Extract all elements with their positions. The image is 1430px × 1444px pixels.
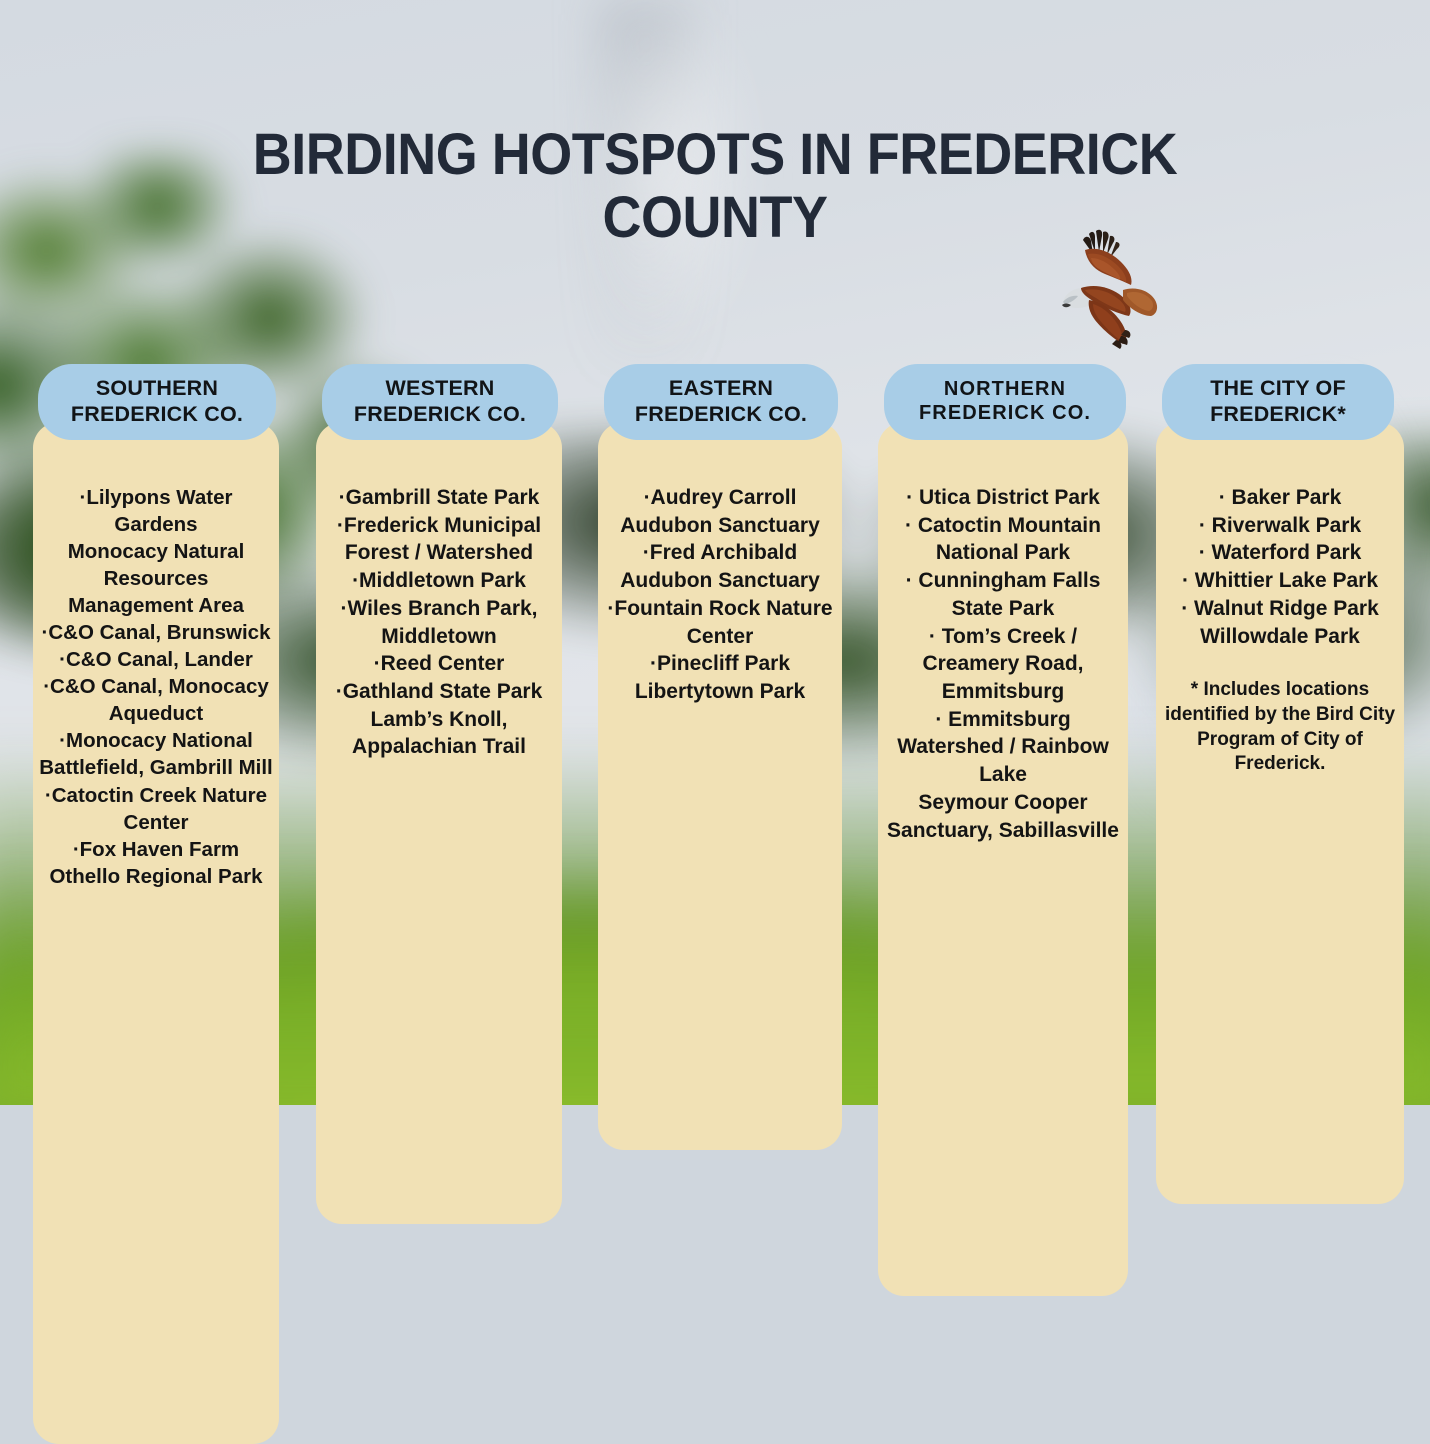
list-item: ·C&O Canal, Monocacy Aqueduct: [39, 673, 273, 727]
column-southern-body: ·Lilypons Water Gardens Monocacy Natural…: [33, 422, 279, 1444]
list-item: ·Fox Haven Farm: [39, 836, 273, 863]
list-item: Willowdale Park: [1162, 623, 1398, 651]
list-item: ·Monocacy National Battlefield, Gambrill…: [39, 727, 273, 781]
column-northern-body: · Utica District Park · Catoctin Mountai…: [878, 422, 1128, 1296]
list-item: · Whittier Lake Park: [1162, 567, 1398, 595]
list-item: · Riverwalk Park: [1162, 512, 1398, 540]
column-city-body: · Baker Park · Riverwalk Park · Waterfor…: [1156, 422, 1404, 1204]
list-item: ·Gambrill State Park: [320, 484, 558, 512]
list-item: · Waterford Park: [1162, 539, 1398, 567]
list-item: · Emmitsburg Watershed / Rainbow Lake: [882, 706, 1124, 789]
column-eastern-body: ·Audrey Carroll Audubon Sanctuary ·Fred …: [598, 422, 842, 1150]
column-western-list: ·Gambrill State Park ·Frederick Municipa…: [320, 484, 558, 761]
list-item: ·Fred Archibald Audubon Sanctuary: [604, 539, 836, 594]
column-city-list: · Baker Park · Riverwalk Park · Waterfor…: [1162, 484, 1398, 650]
list-item: ·Wiles Branch Park, Middletown: [320, 595, 558, 650]
column-northern-heading: NORTHERN FREDERICK CO.: [884, 364, 1126, 440]
list-item: · Walnut Ridge Park: [1162, 595, 1398, 623]
column-city-heading: THE CITY OF FREDERICK*: [1162, 364, 1394, 440]
column-northern-list: · Utica District Park · Catoctin Mountai…: [882, 484, 1124, 844]
list-item: ·Middletown Park: [320, 567, 558, 595]
hotspot-columns: ·Lilypons Water Gardens Monocacy Natural…: [0, 364, 1430, 1104]
list-item: ·Lilypons Water Gardens: [39, 484, 273, 538]
column-eastern-list: ·Audrey Carroll Audubon Sanctuary ·Fred …: [604, 484, 836, 706]
list-item: · Catoctin Mountain National Park: [882, 512, 1124, 567]
city-footnote: * Includes locations identified by the B…: [1162, 678, 1398, 777]
column-western-heading: WESTERN FREDERICK CO.: [322, 364, 558, 440]
list-item: ·C&O Canal, Lander: [39, 646, 273, 673]
column-southern-heading: SOUTHERN FREDERICK CO.: [38, 364, 276, 440]
list-item: Libertytown Park: [604, 678, 836, 706]
column-southern-list: ·Lilypons Water Gardens Monocacy Natural…: [39, 484, 273, 890]
soaring-hawk-icon: [1045, 228, 1163, 350]
list-item: Othello Regional Park: [39, 863, 273, 890]
column-western-body: ·Gambrill State Park ·Frederick Municipa…: [316, 422, 562, 1224]
list-item: ·Catoctin Creek Nature Center: [39, 782, 273, 836]
list-item: ·Gathland State Park: [320, 678, 558, 706]
list-item: ·Frederick Municipal Forest / Watershed: [320, 512, 558, 567]
list-item: Seymour Cooper Sanctuary, Sabillasville: [882, 789, 1124, 844]
list-item: Monocacy Natural Resources Management Ar…: [39, 538, 273, 619]
list-item: · Baker Park: [1162, 484, 1398, 512]
list-item: Lamb’s Knoll, Appalachian Trail: [320, 706, 558, 761]
list-item: ·Audrey Carroll Audubon Sanctuary: [604, 484, 836, 539]
list-item: · Utica District Park: [882, 484, 1124, 512]
list-item: ·Reed Center: [320, 650, 558, 678]
list-item: · Cunningham Falls State Park: [882, 567, 1124, 622]
list-item: · Tom’s Creek / Creamery Road, Emmitsbur…: [882, 623, 1124, 706]
list-item: ·Pinecliff Park: [604, 650, 836, 678]
list-item: ·C&O Canal, Brunswick: [39, 619, 273, 646]
list-item: ·Fountain Rock Nature Center: [604, 595, 836, 650]
column-eastern-heading: EASTERN FREDERICK CO.: [604, 364, 838, 440]
